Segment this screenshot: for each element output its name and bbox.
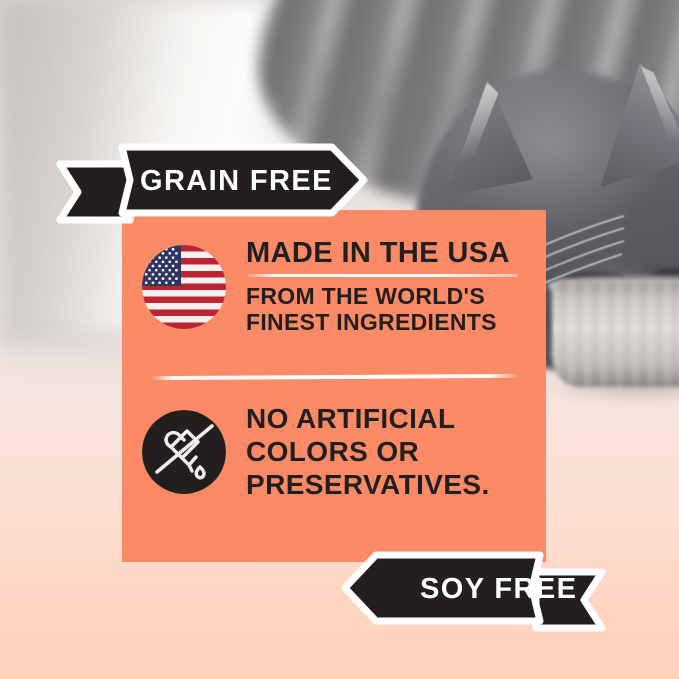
feature-headline-line-1: NO ARTIFICIAL (246, 402, 532, 435)
feature-subline-2: FINEST INGREDIENTS (246, 309, 532, 335)
banner-soy-free: SOY FREE (340, 550, 606, 634)
banner-grain-free-label: GRAIN FREE (140, 165, 333, 198)
banner-soy-free-label: SOY FREE (420, 573, 577, 606)
dropper-crossed-out-icon (142, 410, 226, 494)
banner-grain-free: GRAIN FREE (56, 142, 368, 226)
feature-no-artificial: NO ARTIFICIAL COLORS OR PRESERVATIVES. (142, 402, 532, 501)
headline-underline (248, 274, 518, 277)
feature-card: MADE IN THE USA FROM THE WORLD'S FINEST … (122, 210, 546, 562)
feature-subline-1: FROM THE WORLD'S (246, 283, 532, 309)
no-dropper-icon (142, 410, 226, 494)
product-feature-graphic: MADE IN THE USA FROM THE WORLD'S FINEST … (0, 0, 679, 679)
feature-headline-line-3: PRESERVATIVES. (246, 468, 532, 501)
feature-made-in-usa: MADE IN THE USA FROM THE WORLD'S FINEST … (142, 238, 532, 335)
food-bowl (552, 282, 679, 387)
bowl-shadow (540, 378, 679, 400)
us-flag-icon (142, 245, 226, 329)
card-divider (150, 374, 518, 380)
flag-stars-icon (142, 245, 181, 286)
feature-headline-usa: MADE IN THE USA (246, 238, 532, 269)
feature-headline-line-2: COLORS OR (246, 435, 532, 468)
